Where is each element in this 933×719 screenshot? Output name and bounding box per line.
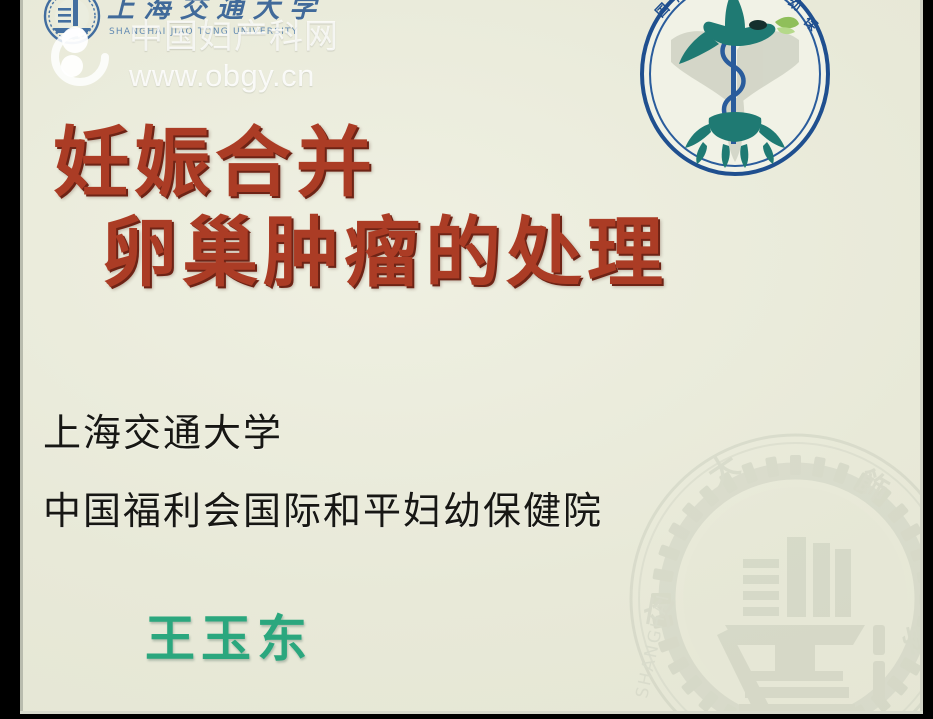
- obgy-watermark: 中国妇产科网 www.obgy.cn: [45, 8, 375, 98]
- affiliation-block: 上海交通大学 中国福利会国际和平妇幼保健院: [23, 414, 923, 530]
- slide-screen: 大 飾 交 學 SHANGHAI UNIVERSITY: [0, 0, 933, 719]
- svg-text:妇: 妇: [765, 0, 784, 1]
- letterbox-bar-left: [0, 0, 20, 719]
- slide-title: 妊娠合并 卵巢肿瘤的处理: [23, 118, 923, 297]
- watermark-site-name: 中国妇产科网: [129, 20, 339, 54]
- title-line-1: 妊娠合并: [53, 118, 923, 208]
- svg-text:国: 国: [653, 1, 673, 21]
- svg-text:保: 保: [799, 13, 821, 35]
- letterbox-bar-bottom: [0, 714, 933, 719]
- sjtu-seal-icon: 上 海 交 通 大 学 SHANGHAI JIAO TONG UNIVERSIT…: [39, 0, 339, 52]
- svg-text:SHANGHAI JIAO TONG UNIVERSITY: SHANGHAI JIAO TONG UNIVERSITY: [109, 27, 298, 37]
- frame-hairline-left: [20, 0, 23, 719]
- svg-text:幼: 幼: [785, 0, 805, 15]
- svg-text:际: 际: [671, 0, 690, 5]
- presenter-name: 王玉东: [145, 614, 923, 664]
- watermark-url: www.obgy.cn: [129, 60, 315, 91]
- affiliation-hospital: 中国福利会国际和平妇幼保健院: [43, 492, 923, 530]
- obgy-circle-mark-icon: [45, 22, 115, 92]
- title-line-2: 卵巢肿瘤的处理: [101, 208, 923, 298]
- letterbox-bar-right: [923, 0, 933, 719]
- svg-text:上 海 交 通 大 学: 上 海 交 通 大 学: [107, 0, 320, 24]
- presentation-slide: 大 飾 交 學 SHANGHAI UNIVERSITY: [23, 0, 923, 711]
- presenter-block: 王玉东: [23, 614, 923, 664]
- affiliation-university: 上海交通大学: [43, 414, 923, 452]
